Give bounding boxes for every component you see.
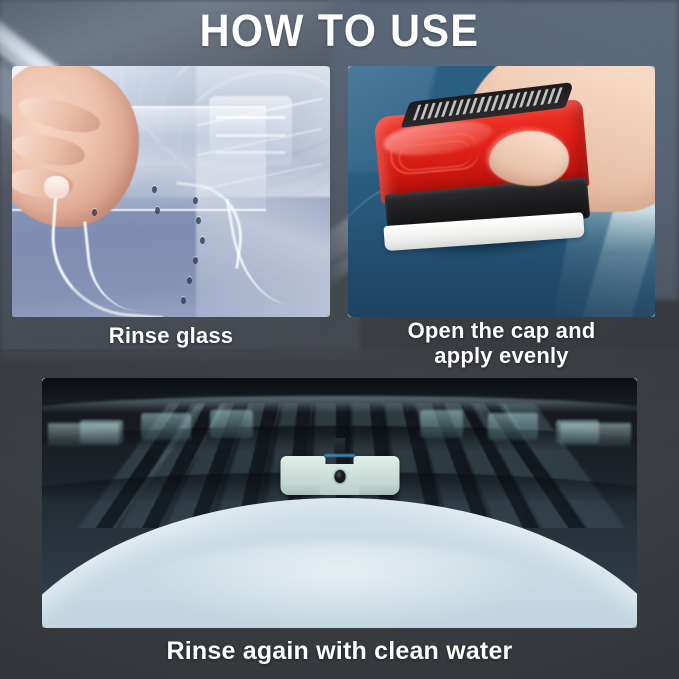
step-3-reflection-pane	[488, 413, 538, 439]
step-1-photo-frame	[12, 66, 330, 317]
step-3-caption: Rinse again with clean water	[42, 636, 637, 666]
step-1-bottle-ring	[216, 134, 286, 137]
page-title: HOW TO USE	[27, 6, 652, 56]
step-1-water-droplet	[187, 277, 192, 284]
step-3-reflection-pane	[420, 410, 463, 438]
step-1-bottle-ring	[216, 116, 286, 119]
step-3-corner-highlight	[48, 423, 119, 446]
step-1-water-droplet	[200, 237, 205, 244]
step-1-water-droplet	[193, 197, 198, 204]
step-2-caption-line-2: apply evenly	[348, 343, 655, 368]
step-2-caption-line-1: Open the cap and	[348, 318, 655, 343]
step-1-water-droplet	[155, 207, 160, 214]
step-1-water-droplet	[181, 297, 186, 304]
step-1-fingernail	[44, 176, 69, 199]
step-3-mirror-cover-right	[354, 456, 399, 495]
step-1-caption: Rinse glass	[12, 322, 330, 350]
step-1-bottle-neck	[209, 96, 292, 166]
how-to-use-infographic: HOW TO USE	[0, 0, 679, 679]
step-3-reflection-pane	[210, 410, 253, 438]
step-3-corner-highlight	[560, 423, 631, 446]
step-3-image	[42, 378, 637, 628]
step-3-sensor-strip	[324, 454, 355, 457]
step-1-bottle-ring	[216, 151, 286, 154]
step-3-camera-lens-icon	[335, 470, 346, 483]
step-3-reflection-pane	[141, 413, 191, 439]
step-2-image	[348, 66, 655, 317]
step-3-photo-frame	[42, 378, 637, 628]
step-2-photo-frame	[348, 66, 655, 317]
step-1-image	[12, 66, 330, 317]
step-1-water-droplet	[92, 209, 97, 216]
step-2-thumb	[489, 131, 569, 186]
step-3-rearview-mirror-mount	[280, 453, 399, 496]
step-2-caption: Open the cap and apply evenly	[348, 318, 655, 368]
